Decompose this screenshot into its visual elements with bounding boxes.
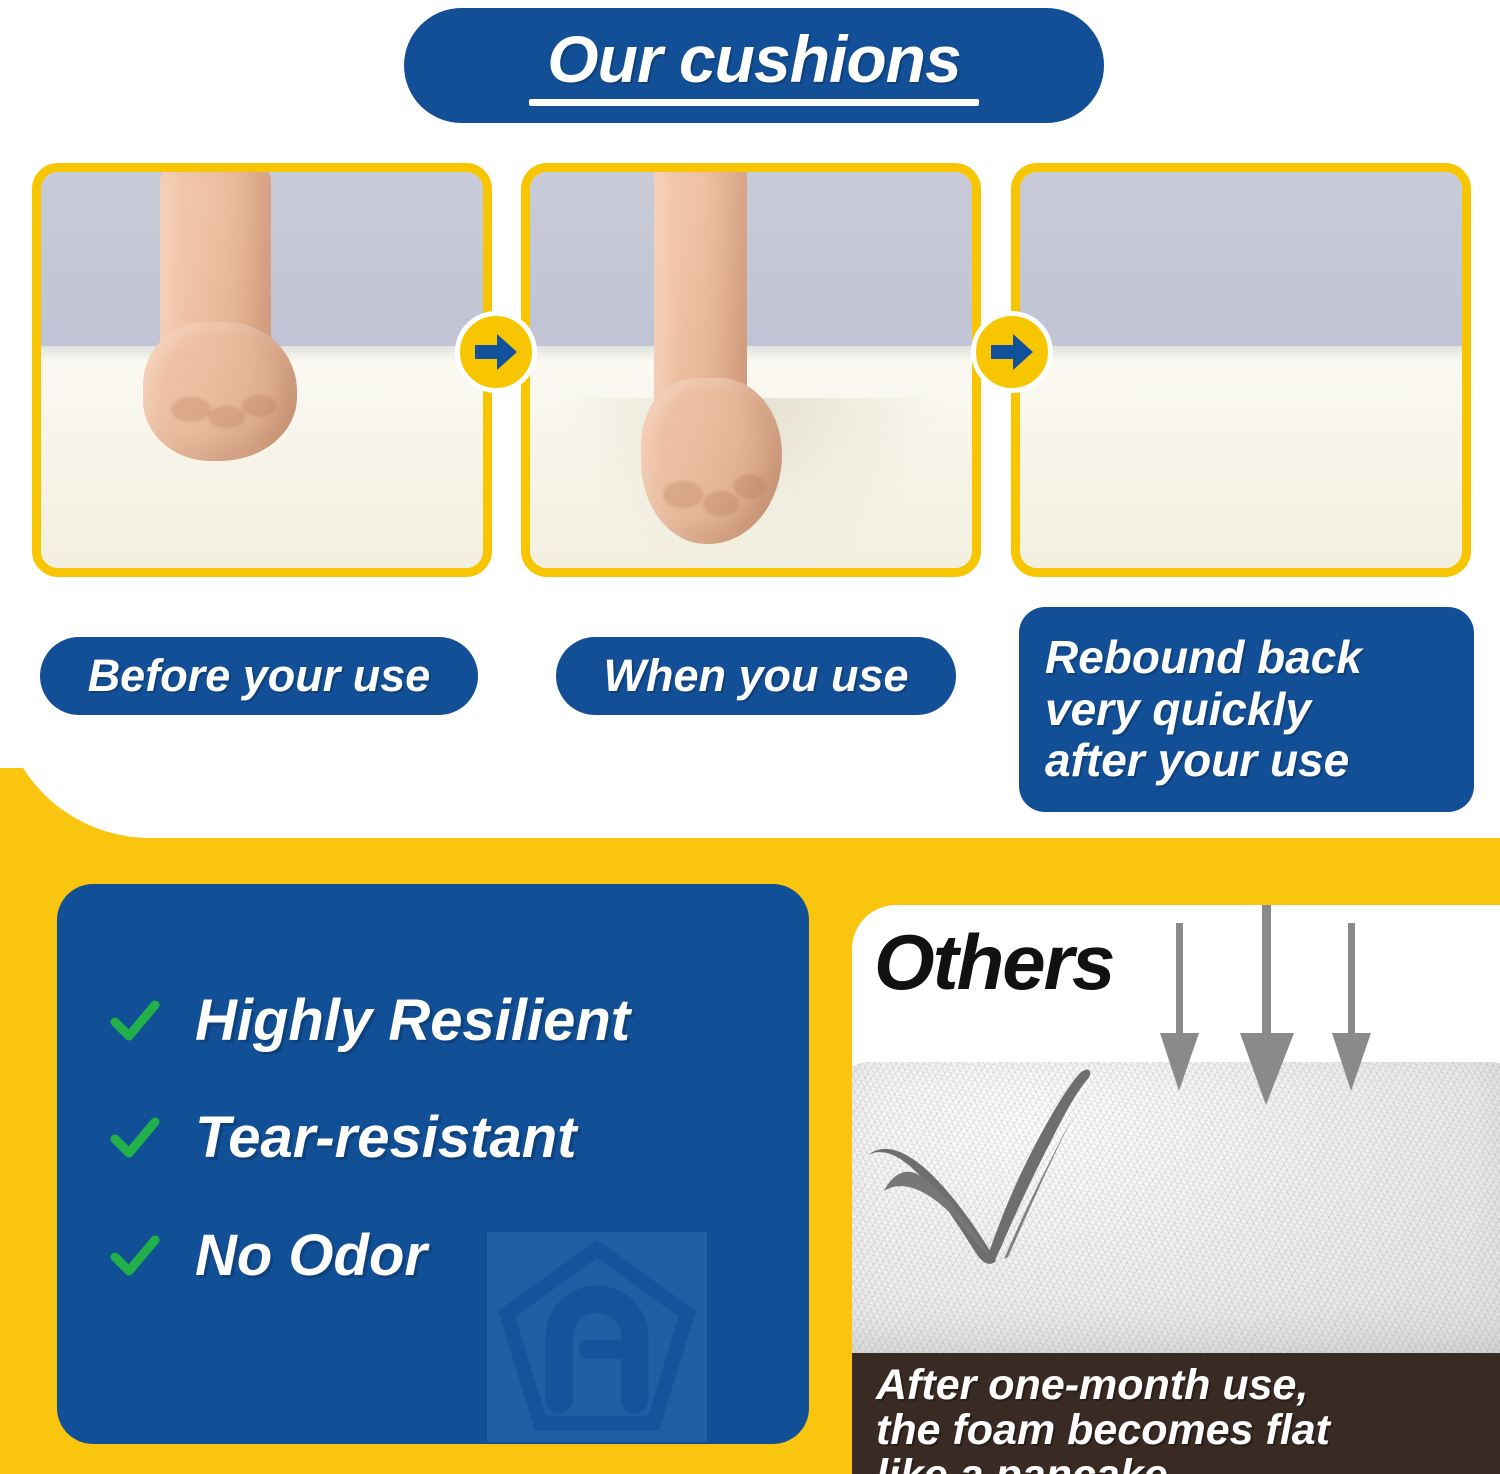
infographic-root: Our cushions <box>0 0 1500 1474</box>
feature-label-3: No Odor <box>195 1227 427 1285</box>
title-underline <box>529 99 979 106</box>
step-arrow-badge-2 <box>971 311 1053 393</box>
check-icon <box>109 1230 161 1282</box>
downward-pressure-arrows-icon <box>1152 905 1412 1105</box>
step-caption-3-line-3: after your use <box>1045 735 1474 787</box>
photo-fist-pressing <box>530 172 972 568</box>
photo-foam-surface <box>1020 346 1462 568</box>
feature-label-1: Highly Resilient <box>195 992 630 1050</box>
step-caption-3-line-1: Rebound back <box>1045 632 1474 684</box>
step-photo-2 <box>521 163 981 577</box>
feature-item-3: No Odor <box>109 1227 427 1285</box>
others-title: Others <box>874 923 1113 1001</box>
step-photo-3 <box>1011 163 1471 577</box>
others-caption-line-1: After one-month use, <box>876 1363 1500 1408</box>
check-icon <box>109 1112 161 1164</box>
others-caption-line-2: the foam becomes flat <box>876 1408 1500 1453</box>
brush-x-mark-icon <box>858 1035 1138 1285</box>
arrow-right-icon <box>989 331 1035 373</box>
photo-fist-resting <box>41 172 483 568</box>
pentagon-arch-logo-icon <box>487 1232 707 1442</box>
step-caption-2: When you use <box>556 637 956 715</box>
photo-foam-rebounded <box>1020 172 1462 568</box>
feature-item-2: Tear-resistant <box>109 1109 576 1167</box>
photo-background-wall <box>530 172 972 358</box>
step-caption-3: Rebound back very quickly after your use <box>1019 607 1474 812</box>
arrow-right-icon <box>473 331 519 373</box>
feature-item-1: Highly Resilient <box>109 992 630 1050</box>
photo-foam-edge <box>530 346 972 362</box>
feature-label-2: Tear-resistant <box>195 1109 576 1167</box>
others-caption-line-3: like a pancake. <box>876 1453 1500 1474</box>
others-caption: After one-month use, the foam becomes fl… <box>852 1353 1500 1474</box>
step-caption-1: Before your use <box>40 637 478 715</box>
page-title: Our cushions <box>547 26 960 92</box>
step-photo-1 <box>32 163 492 577</box>
features-card: Highly Resilient Tear-resistant No Odor <box>57 884 809 1444</box>
check-icon <box>109 995 161 1047</box>
step-caption-3-line-2: very quickly <box>1045 684 1474 736</box>
photo-fist <box>143 322 298 461</box>
page-title-pill: Our cushions <box>404 8 1104 123</box>
photo-background-wall <box>1020 172 1462 358</box>
step-arrow-badge-1 <box>455 311 537 393</box>
others-card: Others After one-month use, the foam bec… <box>852 905 1500 1474</box>
photo-foam-edge <box>1020 346 1462 362</box>
